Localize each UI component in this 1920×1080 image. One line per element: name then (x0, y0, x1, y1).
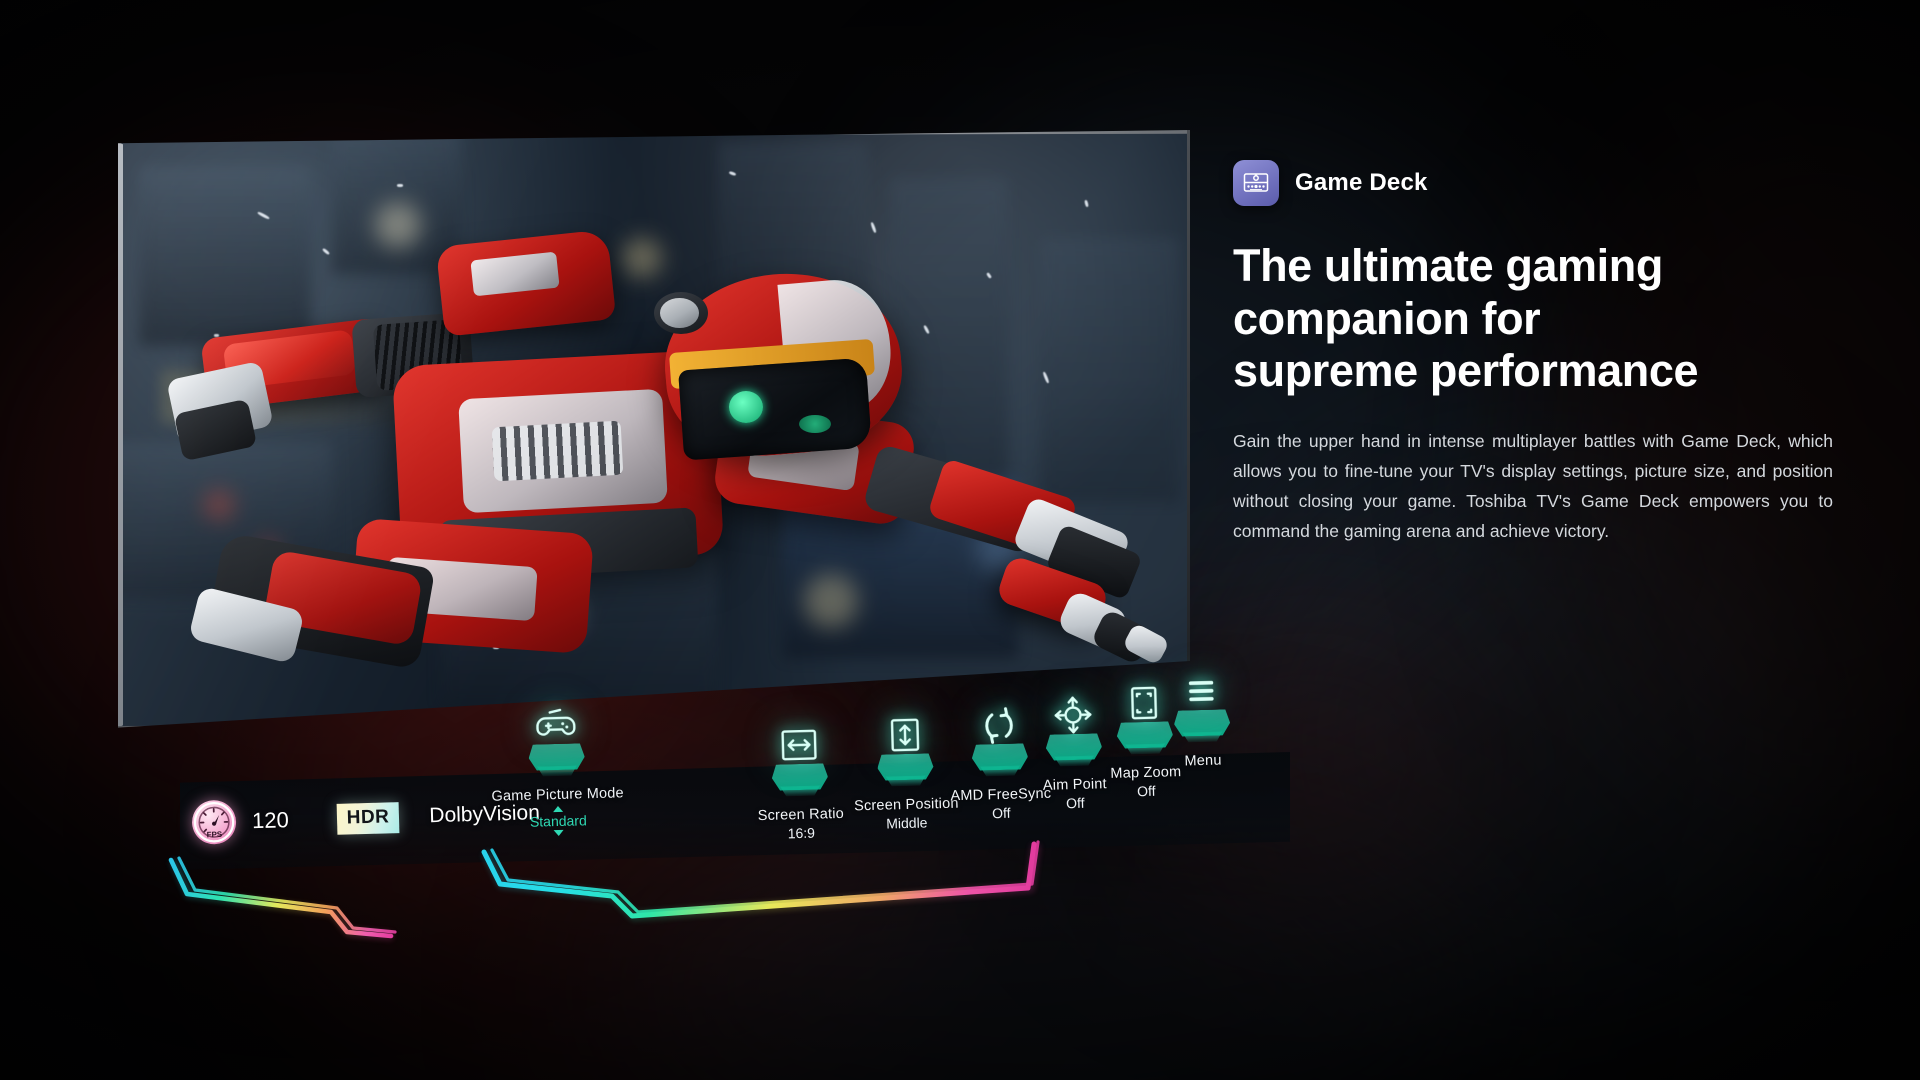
headline-line-1: The ultimate gaming (1233, 240, 1663, 291)
robot-arm-popout (1000, 560, 1190, 690)
body-paragraph: Gain the upper hand in intense multiplay… (1233, 426, 1833, 546)
headline-line-3: supreme performance (1233, 345, 1698, 396)
brand-name: Game Deck (1295, 169, 1428, 197)
body-copy: Gain the upper hand in intense multiplay… (1233, 426, 1833, 546)
headline-line-2: companion for (1233, 293, 1540, 344)
game-deck-icon (1233, 160, 1279, 206)
game-deck-hero-banner: FPS 120 HDR DolbyVision (0, 0, 1920, 1080)
page-title: The ultimate gaming companion for suprem… (1233, 240, 1833, 398)
marketing-copy-column: Game Deck The ultimate gaming companion … (1233, 160, 1833, 546)
brand-line: Game Deck (1233, 160, 1833, 206)
